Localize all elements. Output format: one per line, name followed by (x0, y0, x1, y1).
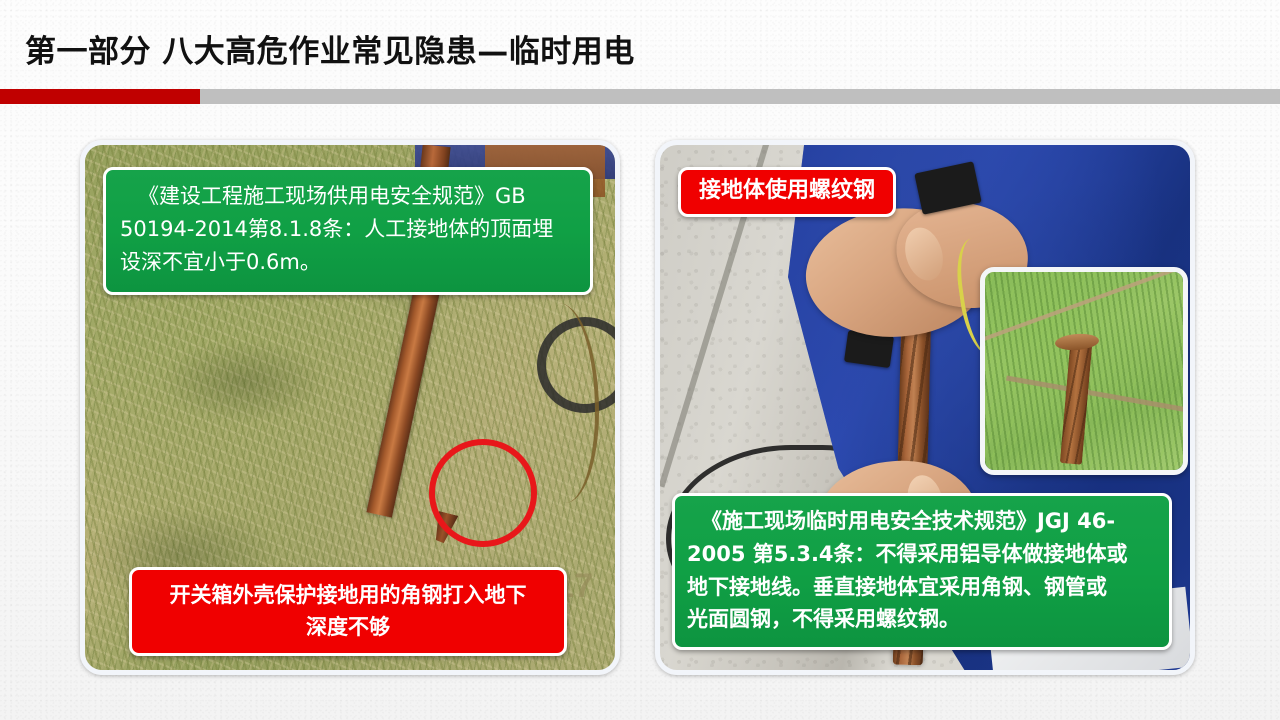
right-label-callout: 接地体使用螺纹钢 (678, 167, 896, 217)
left-caption-callout: 开关箱外壳保护接地用的角钢打入地下 深度不够 (129, 567, 567, 656)
page-title: 第一部分 八大高危作业常见隐患—临时用电 (25, 26, 635, 71)
title-rule-red (0, 89, 200, 104)
title-rule (0, 89, 1280, 104)
regulation-line: 《建设工程施工现场供用电安全规范》GB (120, 180, 576, 213)
left-photo-panel[interactable]: 17 《建设工程施工现场供用电安全规范》GB 50194-2014第8.1.8条… (80, 140, 620, 675)
regulation-line: 光面圆钢，不得采用螺纹钢。 (687, 603, 1157, 636)
regulation-line: 2005 第5.3.4条：不得采用铝导体做接地体或 (687, 538, 1157, 571)
right-regulation-callout: 《施工现场临时用电安全技术规范》JGJ 46- 2005 第5.3.4条：不得采… (672, 493, 1172, 650)
red-circle-annotation-icon (429, 439, 537, 547)
regulation-line: 设深不宜小于0.6m。 (120, 246, 576, 279)
inset-photo-rebar-in-grass[interactable] (980, 267, 1188, 475)
right-photo-panel[interactable]: 接地体使用螺纹钢 《施工现场临时用电安全技术规范》JGJ 46- 2005 第5… (655, 140, 1195, 675)
slide-root: 第一部分 八大高危作业常见隐患—临时用电 17 《建设工程施工现场供用电安全规范… (0, 0, 1280, 720)
caption-line: 深度不够 (144, 612, 552, 644)
left-regulation-callout: 《建设工程施工现场供用电安全规范》GB 50194-2014第8.1.8条：人工… (103, 167, 593, 295)
regulation-line: 《施工现场临时用电安全技术规范》JGJ 46- (687, 505, 1157, 538)
regulation-line: 地下接地线。垂直接地体宜采用角钢、钢管或 (687, 571, 1157, 604)
label-line: 接地体使用螺纹钢 (699, 177, 875, 205)
caption-line: 开关箱外壳保护接地用的角钢打入地下 (144, 580, 552, 612)
regulation-line: 50194-2014第8.1.8条：人工接地体的顶面埋 (120, 213, 576, 246)
